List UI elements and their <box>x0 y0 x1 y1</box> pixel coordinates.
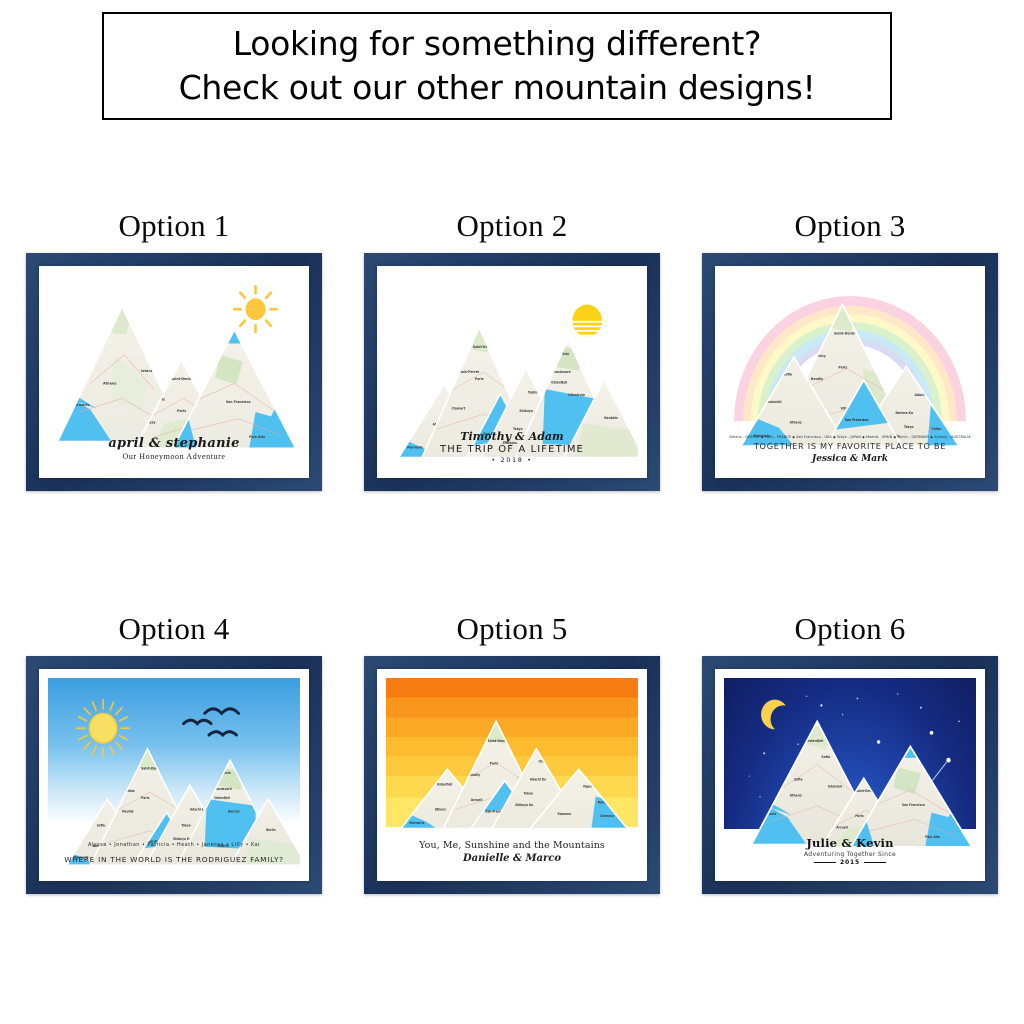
svg-text:Ostenfjell: Ostenfjell <box>214 796 230 800</box>
picture-frame-4[interactable]: SofiaAthensMarmaris <box>26 656 322 894</box>
svg-text:Neuköln: Neuköln <box>604 416 618 420</box>
svg-text:Sofia: Sofia <box>97 823 105 827</box>
artwork-3-svg: Saint-DenisClichy ParisNeuilly Vitry <box>724 275 976 469</box>
svg-text:Paris: Paris <box>490 762 498 766</box>
artwork-4: SofiaAthensMarmaris <box>48 678 300 872</box>
svg-text:Clamart: Clamart <box>452 407 466 411</box>
caption-6-year: 2015 <box>840 859 860 866</box>
artwork-5: OstenfjellAthensMarmaris <box>386 678 638 872</box>
svg-text:Saint-Denis: Saint-Denis <box>473 345 493 349</box>
caption-3-names: Jessica & Mark <box>724 454 976 464</box>
caption-3-cities-wrap: Athens - GREECE ◆ Paris - FRANCE ◆ San F… <box>724 435 976 439</box>
svg-text:Shibuya Ku: Shibuya Ku <box>173 837 191 841</box>
caption-4: WHERE IN THE WORLD IS THE RODRIGUEZ FAMI… <box>48 855 300 864</box>
frame-inner-6: OstenfjellSofia SofiaIstanbul AthensMarm… <box>715 669 985 881</box>
svg-text:Athens: Athens <box>103 381 116 385</box>
option-label-5: Option 5 <box>457 613 568 644</box>
svg-text:Levallois-Perret: Levallois-Perret <box>452 370 480 374</box>
svg-text:Sammandsvard: Sammandsvard <box>207 787 232 791</box>
svg-text:San Francisco: San Francisco <box>845 418 870 422</box>
year-rule-left <box>814 862 836 863</box>
option-card-4[interactable]: Option 4 <box>24 613 324 894</box>
frame-inner-5: OstenfjellAthensMarmaris <box>377 669 647 881</box>
artwork-6: OstenfjellSofia SofiaIstanbul AthensMarm… <box>724 678 976 872</box>
frame-inner-1: AthensMarmaris IstanbulSofia <box>39 266 309 478</box>
svg-text:Vigevano: Vigevano <box>583 784 598 788</box>
svg-text:Sammandsvard: Sammandsvard <box>545 370 571 374</box>
svg-text:Nerima Ku: Nerima Ku <box>896 411 913 415</box>
svg-text:Cremona: Cremona <box>600 814 614 818</box>
caption-6: Julie & Kevin Adventuring Together Since… <box>724 836 976 866</box>
picture-frame-6[interactable]: OstenfjellSofia SofiaIstanbul AthensMarm… <box>702 656 998 894</box>
retro-sun-icon <box>570 305 604 337</box>
svg-text:Rozzano: Rozzano <box>558 812 571 816</box>
mat-board-3: Saint-DenisClichy ParisNeuilly Vitry <box>715 266 985 478</box>
option-row-top: Option 1 <box>0 210 1024 491</box>
promo-banner-line-2: Check out our other mountain designs! <box>179 66 816 110</box>
svg-text:Neuilly: Neuilly <box>811 377 824 381</box>
svg-text:Sofia: Sofia <box>821 755 830 759</box>
caption-1: april & stephanie Our Honeymoon Adventur… <box>48 436 300 461</box>
svg-text:San Francisco: San Francisco <box>226 400 251 404</box>
svg-text:Saint-Denis: Saint-Denis <box>834 331 855 335</box>
caption-4-names-wrap: Alyssa • Jonathan • Patricia • Heath • J… <box>48 842 300 848</box>
mat-board-5: OstenfjellAthensMarmaris <box>377 669 647 881</box>
frame-inner-3: Saint-DenisClichy ParisNeuilly Vitry <box>715 266 985 478</box>
caption-5-tagline: You, Me, Sunshine and the Mountains <box>386 840 638 851</box>
promo-banner: Looking for something different? Check o… <box>102 12 892 120</box>
caption-6-subtitle: Adventuring Together Since <box>724 851 976 858</box>
picture-frame-1[interactable]: AthensMarmaris IstanbulSofia <box>26 253 322 491</box>
moon-icon <box>761 700 789 730</box>
caption-3-cities: Athens - GREECE ◆ Paris - FRANCE ◆ San F… <box>724 435 976 439</box>
svg-text:Sofia: Sofia <box>794 778 803 782</box>
svg-text:Paris: Paris <box>855 814 863 818</box>
option-label-1: Option 1 <box>119 210 230 241</box>
mat-board-4: SofiaAthensMarmaris <box>39 669 309 881</box>
option-row-bottom: Option 4 <box>0 613 1024 894</box>
option-label-2: Option 2 <box>457 210 568 241</box>
caption-4-tagline: WHERE IN THE WORLD IS THE RODRIGUEZ FAMI… <box>48 855 300 864</box>
birds-icon <box>184 709 239 735</box>
svg-text:Shibuya: Shibuya <box>519 409 532 413</box>
option-card-1[interactable]: Option 1 <box>24 210 324 491</box>
svg-text:Bærum: Bærum <box>228 810 240 814</box>
svg-text:Chiba: Chiba <box>932 427 941 431</box>
caption-4-names-list: Alyssa • Jonathan • Patricia • Heath • J… <box>48 842 300 848</box>
svg-text:Athens: Athens <box>790 420 802 424</box>
svg-text:Saint-Denis: Saint-Denis <box>171 377 192 381</box>
svg-text:Tokyo: Tokyo <box>524 791 533 795</box>
svg-text:Paris: Paris <box>141 796 149 800</box>
artwork-3: Saint-DenisClichy ParisNeuilly Vitry <box>724 275 976 469</box>
svg-text:Ostenfjell: Ostenfjell <box>551 380 567 384</box>
caption-2-year: • 2018 • <box>386 456 638 464</box>
caption-2: Timothy & Adam THE TRIP OF A LIFETIME • … <box>386 430 638 464</box>
option-grid: Option 1 <box>0 210 1024 1016</box>
svg-text:Shibuya Ku: Shibuya Ku <box>515 803 533 807</box>
mat-board-1: AthensMarmaris IstanbulSofia <box>39 266 309 478</box>
caption-6-year-wrap: 2015 <box>724 858 976 866</box>
promo-banner-line-1: Looking for something different? <box>233 22 761 66</box>
caption-6-names: Julie & Kevin <box>724 836 976 850</box>
option-card-3[interactable]: Option 3 <box>700 210 1000 491</box>
frame-inner-4: SofiaAthensMarmaris <box>39 669 309 881</box>
caption-3-tagline: TOGETHER IS MY FAVORITE PLACE TO BE <box>724 441 976 451</box>
sun-icon <box>77 700 130 757</box>
option-card-5[interactable]: Option 5 <box>362 613 662 894</box>
option-label-6: Option 6 <box>795 613 906 644</box>
svg-text:Paris: Paris <box>475 377 484 381</box>
svg-text:Sofia: Sofia <box>90 340 100 344</box>
svg-text:Istanbul: Istanbul <box>828 784 842 788</box>
svg-text:Neuilly: Neuilly <box>122 810 134 814</box>
artwork-1: AthensMarmaris IstanbulSofia <box>48 275 300 469</box>
svg-text:Lillestrom: Lillestrom <box>568 393 585 397</box>
svg-text:Athens: Athens <box>435 807 447 811</box>
svg-text:Paris: Paris <box>838 365 847 369</box>
sun-icon <box>234 286 276 332</box>
caption-1-names: april & stephanie <box>48 436 300 451</box>
picture-frame-5[interactable]: OstenfjellAthensMarmaris <box>364 656 660 894</box>
svg-text:Tokyo: Tokyo <box>904 425 914 429</box>
year-rule-right <box>864 862 886 863</box>
svg-text:Adachi Ku: Adachi Ku <box>530 778 546 782</box>
svg-text:Arcueil: Arcueil <box>471 798 483 802</box>
option-label-3: Option 3 <box>795 210 906 241</box>
svg-text:Berlin: Berlin <box>266 828 276 832</box>
caption-2-names: Timothy & Adam <box>386 430 638 443</box>
caption-1-subtitle: Our Honeymoon Adventure <box>48 452 300 461</box>
svg-text:Paris: Paris <box>177 409 186 413</box>
frame-inner-2: AthensMarmaris <box>377 266 647 478</box>
picture-frame-3[interactable]: Saint-DenisClichy ParisNeuilly Vitry <box>702 253 998 491</box>
svg-text:San Francisco: San Francisco <box>902 803 925 807</box>
option-card-6[interactable]: Option 6 <box>700 613 1000 894</box>
svg-text:Ostenfjell: Ostenfjell <box>807 739 824 743</box>
option-label-4: Option 4 <box>119 613 230 644</box>
artwork-2: AthensMarmaris <box>386 275 638 469</box>
svg-text:Tokyo: Tokyo <box>181 823 190 827</box>
caption-5: You, Me, Sunshine and the Mountains Dani… <box>386 840 638 864</box>
caption-3: TOGETHER IS MY FAVORITE PLACE TO BE Jess… <box>724 441 976 464</box>
caption-2-tagline: THE TRIP OF A LIFETIME <box>386 444 638 455</box>
mat-board-2: AthensMarmaris <box>377 266 647 478</box>
option-card-2[interactable]: Option 2 <box>362 210 662 491</box>
svg-text:Marmaris: Marmaris <box>409 821 424 825</box>
picture-frame-2[interactable]: AthensMarmaris <box>364 253 660 491</box>
mat-board-6: OstenfjellSofia SofiaIstanbul AthensMarm… <box>715 669 985 881</box>
caption-5-names: Danielle & Marco <box>386 853 638 864</box>
svg-text:Arcueil: Arcueil <box>836 826 848 830</box>
svg-text:Ostenfjell: Ostenfjell <box>437 782 453 786</box>
svg-text:Athens: Athens <box>790 794 802 798</box>
